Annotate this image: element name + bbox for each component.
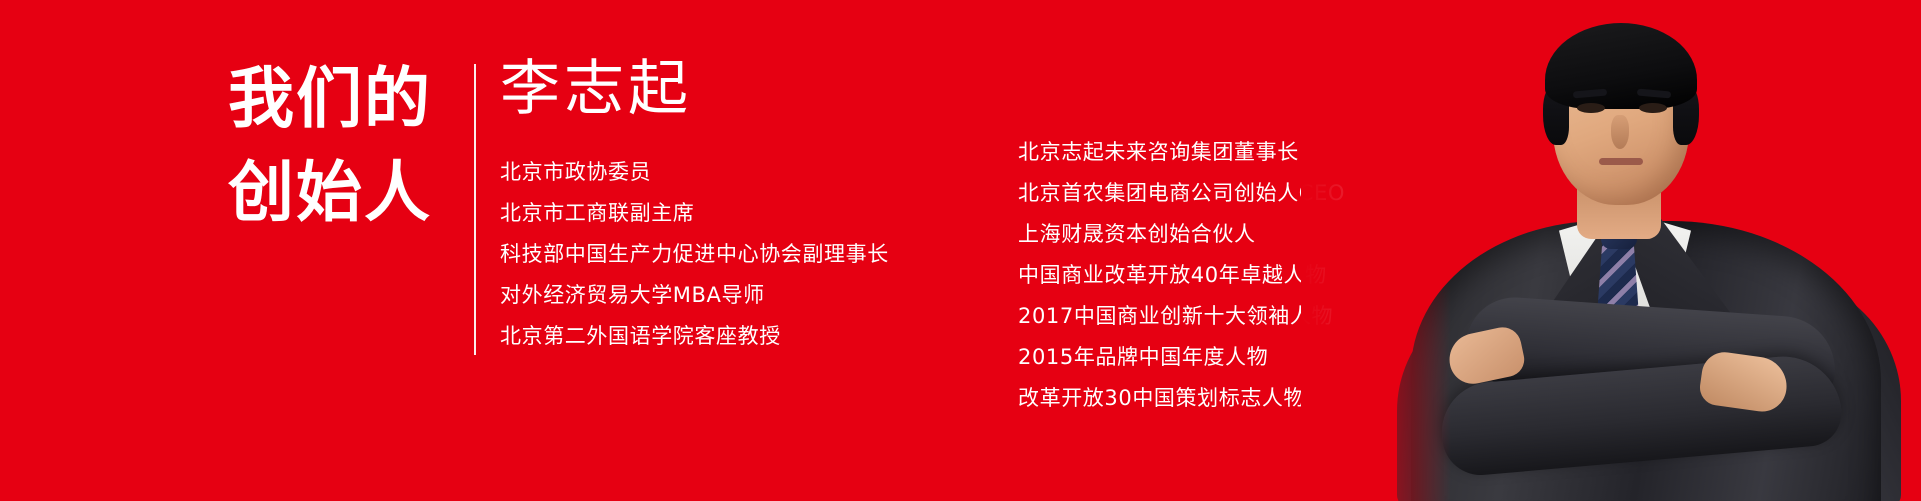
page-title-line-1: 我们的 [228, 52, 464, 146]
portrait-mouth [1599, 158, 1643, 165]
credentials-right-column: 北京志起未来咨询集团董事长 北京首农集团电商公司创始人CEO 上海财晟资本创始合… [1018, 132, 1345, 419]
portrait-shoulder-left [1397, 281, 1607, 501]
credential-item: 北京首农集团电商公司创始人CEO [1018, 173, 1345, 214]
credential-item: 上海财晟资本创始合伙人 [1018, 214, 1345, 255]
portrait-neck [1577, 169, 1661, 239]
portrait-arm-upper [1463, 294, 1838, 406]
portrait-shoulder-right [1686, 271, 1901, 501]
page-title: 我们的 创始人 [228, 52, 464, 240]
portrait-eye-right [1639, 103, 1667, 113]
portrait-ear-right [1678, 95, 1698, 129]
portrait-shirt [1559, 211, 1691, 351]
portrait-head [1553, 37, 1689, 205]
founder-portrait [1301, 0, 1921, 501]
portrait-lapel-right [1619, 203, 1745, 383]
portrait-eyebrow-right [1637, 89, 1671, 99]
credential-item: 改革开放30中国策划标志人物 [1018, 378, 1345, 419]
portrait-tie-knot [1601, 219, 1637, 249]
portrait-hair [1545, 23, 1697, 109]
credential-item: 北京市工商联副主席 [500, 193, 889, 234]
credential-item: 科技部中国生产力促进中心协会副理事长 [500, 234, 889, 275]
credential-item: 北京志起未来咨询集团董事长 [1018, 132, 1345, 173]
portrait-hand-right [1698, 349, 1791, 414]
portrait-hair-side-left [1543, 85, 1569, 145]
credentials-left-column: 北京市政协委员 北京市工商联副主席 科技部中国生产力促进中心协会副理事长 对外经… [500, 152, 889, 357]
portrait-eye-left [1577, 103, 1605, 113]
portrait-suit-body [1411, 221, 1881, 501]
credential-item: 北京第二外国语学院客座教授 [500, 316, 889, 357]
vertical-divider [474, 64, 476, 355]
credential-item: 2015年品牌中国年度人物 [1018, 337, 1345, 378]
credential-item: 对外经济贸易大学MBA导师 [500, 275, 889, 316]
portrait-tie [1595, 241, 1641, 361]
portrait-hand-left [1445, 324, 1528, 388]
credential-item: 2017中国商业创新十大领袖人物 [1018, 296, 1345, 337]
credential-item: 中国商业改革开放40年卓越人物 [1018, 255, 1345, 296]
founder-name: 李志起 [500, 52, 692, 126]
portrait-nose [1611, 115, 1629, 149]
portrait-lapel-left [1529, 203, 1649, 383]
credential-item: 北京市政协委员 [500, 152, 889, 193]
portrait-ear-left [1544, 95, 1564, 129]
portrait-hair-side-right [1673, 85, 1699, 145]
portrait-arm-lower [1438, 352, 1844, 479]
portrait-eyebrow-left [1573, 89, 1607, 99]
founder-banner: 我们的 创始人 李志起 北京市政协委员 北京市工商联副主席 科技部中国生产力促进… [0, 0, 1921, 501]
page-title-line-2: 创始人 [228, 146, 464, 240]
